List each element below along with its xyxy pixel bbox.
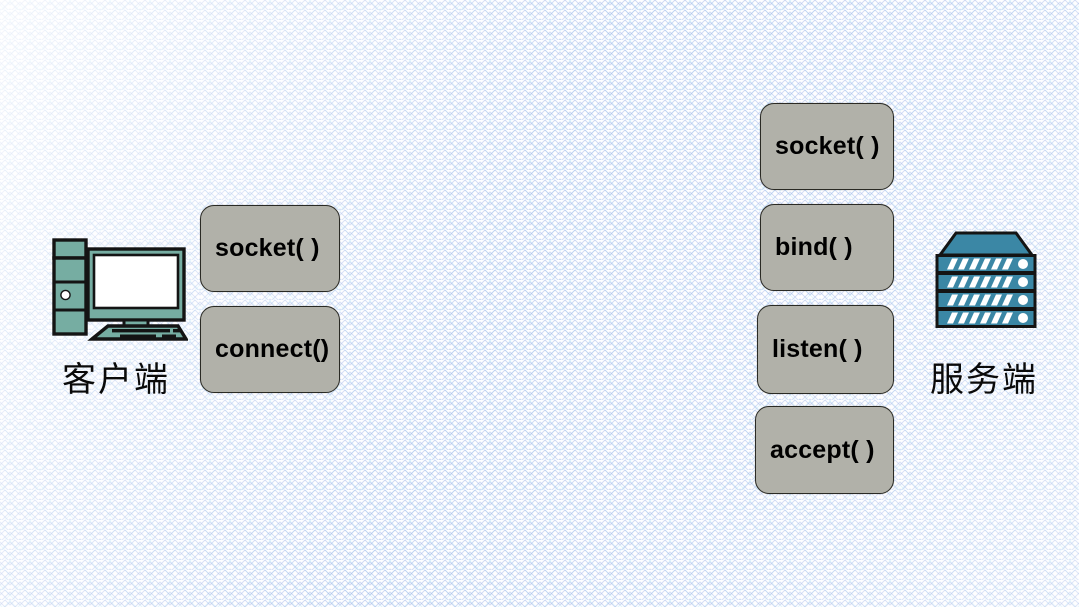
client-call-connect-label: connect() xyxy=(215,335,329,364)
server-endpoint-label: 服务端 xyxy=(930,352,1038,401)
client-call-socket[interactable]: socket( ) xyxy=(200,205,340,292)
server-call-accept-label: accept( ) xyxy=(770,436,875,465)
server-call-socket-label: socket( ) xyxy=(775,132,880,161)
desktop-computer-icon xyxy=(52,236,188,342)
server-call-listen-label: listen( ) xyxy=(772,335,863,364)
server-call-bind-label: bind( ) xyxy=(775,233,853,262)
server-call-socket[interactable]: socket( ) xyxy=(760,103,894,190)
client-call-connect[interactable]: connect() xyxy=(200,306,340,393)
client-call-socket-label: socket( ) xyxy=(215,234,320,263)
server-call-accept[interactable]: accept( ) xyxy=(755,406,894,494)
server-call-listen[interactable]: listen( ) xyxy=(757,305,894,394)
server-rack-icon xyxy=(934,227,1038,337)
server-call-bind[interactable]: bind( ) xyxy=(760,204,894,291)
client-endpoint-label: 客户端 xyxy=(62,352,170,401)
